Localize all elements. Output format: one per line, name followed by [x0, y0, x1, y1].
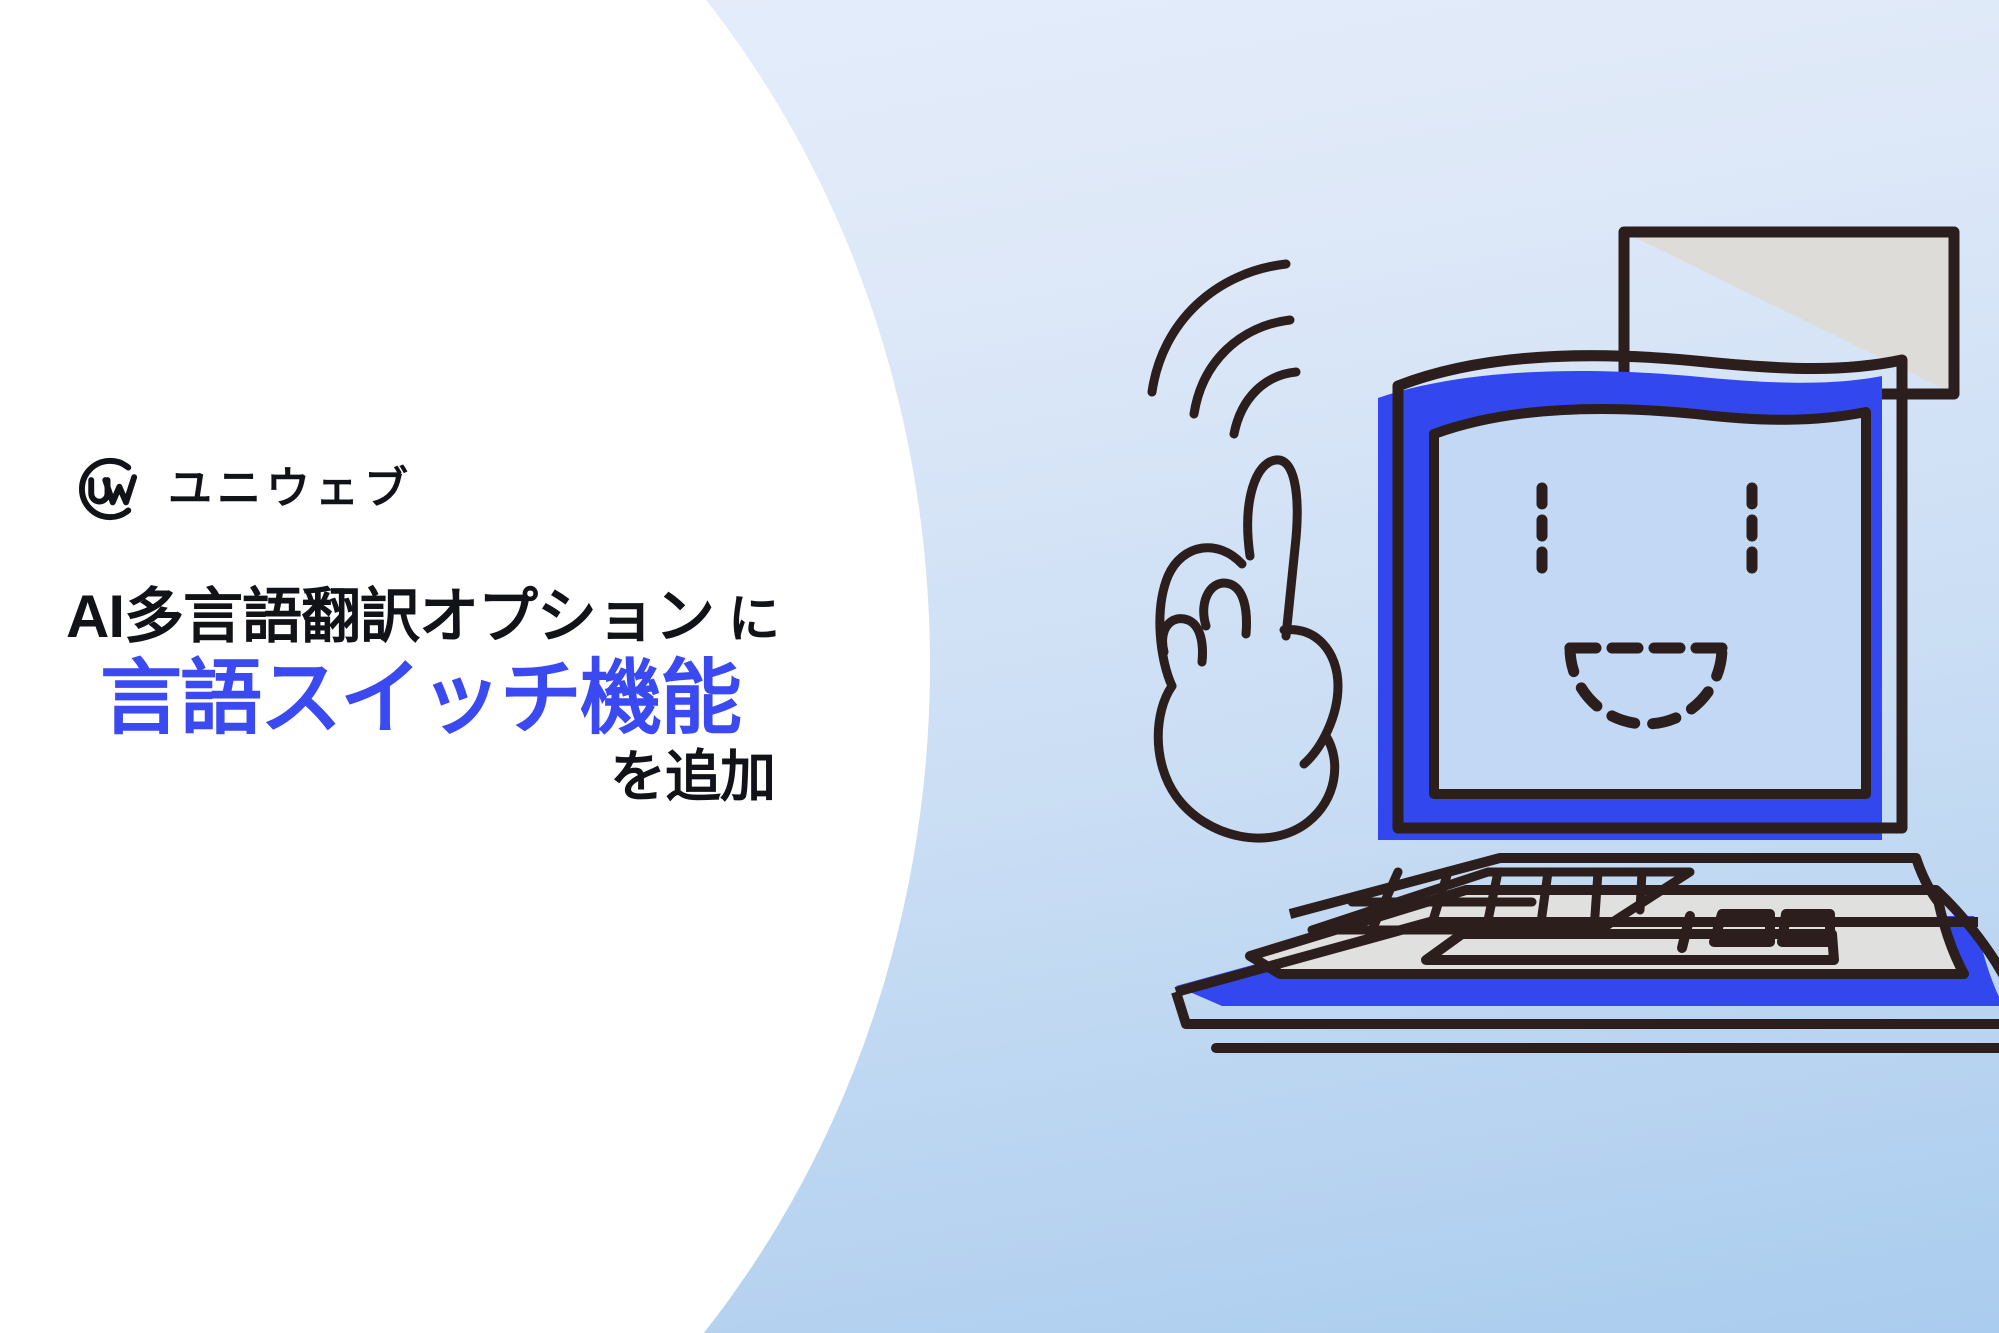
headline-line-1: AI多言語翻訳オプションに	[0, 586, 900, 648]
smiling-laptop-character-illustration	[1130, 200, 1999, 1080]
page-title: AI多言語翻訳オプションに 言語スイッチ機能 を追加	[0, 586, 900, 806]
brand-logo: ユニウェブ	[72, 452, 413, 526]
headline-line-1-main: AI多言語翻訳オプション	[66, 583, 714, 650]
promo-banner: ユニウェブ AI多言語翻訳オプションに 言語スイッチ機能 を追加	[0, 0, 1999, 1333]
text-content-column: ユニウェブ AI多言語翻訳オプションに 言語スイッチ機能 を追加	[0, 0, 980, 1333]
headline-line-3: を追加	[0, 748, 900, 806]
headline-line-1-particle: に	[728, 591, 780, 649]
laptop-icon	[1378, 356, 1902, 840]
wifi-signal-arcs-icon	[1152, 264, 1296, 434]
brand-name-label: ユニウェブ	[168, 467, 413, 511]
laptop-base	[1176, 858, 1999, 1048]
uw-circle-logo-icon	[72, 452, 146, 526]
headline-highlight: 言語スイッチ機能	[0, 656, 900, 741]
pointing-up-hand-icon	[1158, 460, 1338, 838]
